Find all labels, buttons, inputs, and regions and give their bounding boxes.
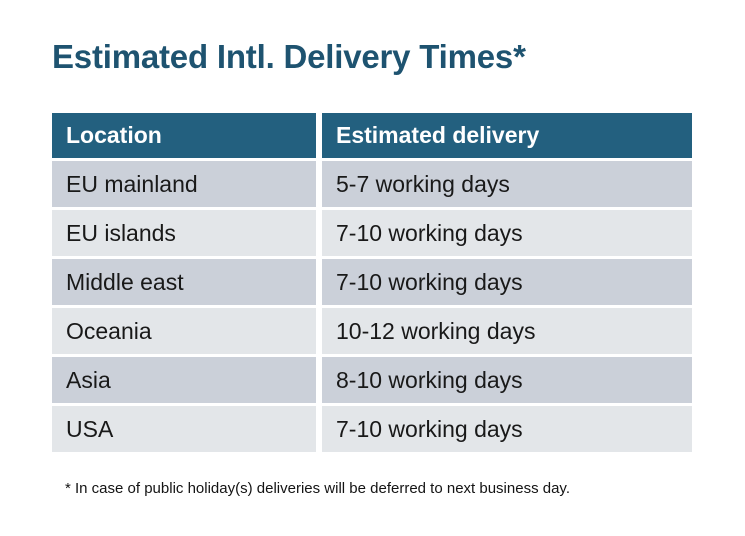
delivery-times-page: Estimated Intl. Delivery Times* Location…	[0, 0, 745, 536]
cell-location: EU islands	[52, 210, 316, 256]
cell-location: EU mainland	[52, 161, 316, 207]
column-header-location: Location	[52, 113, 316, 158]
cell-location: Oceania	[52, 308, 316, 354]
table-row: Asia 8-10 working days	[52, 357, 692, 403]
cell-location: USA	[52, 406, 316, 452]
table-row: EU islands 7-10 working days	[52, 210, 692, 256]
cell-location: Middle east	[52, 259, 316, 305]
cell-delivery: 7-10 working days	[322, 259, 692, 305]
cell-delivery: 7-10 working days	[322, 210, 692, 256]
cell-delivery: 7-10 working days	[322, 406, 692, 452]
footnote: * In case of public holiday(s) deliverie…	[65, 478, 570, 500]
estimated-delivery-table: Location Estimated delivery EU mainland …	[52, 113, 692, 452]
table-row: USA 7-10 working days	[52, 406, 692, 452]
table-row: EU mainland 5-7 working days	[52, 161, 692, 207]
table-header-row: Location Estimated delivery	[52, 113, 692, 158]
cell-delivery: 10-12 working days	[322, 308, 692, 354]
column-header-estimated-delivery: Estimated delivery	[322, 113, 692, 158]
table-row: Middle east 7-10 working days	[52, 259, 692, 305]
cell-delivery: 8-10 working days	[322, 357, 692, 403]
cell-delivery: 5-7 working days	[322, 161, 692, 207]
page-title: Estimated Intl. Delivery Times*	[52, 36, 526, 78]
table-row: Oceania 10-12 working days	[52, 308, 692, 354]
cell-location: Asia	[52, 357, 316, 403]
